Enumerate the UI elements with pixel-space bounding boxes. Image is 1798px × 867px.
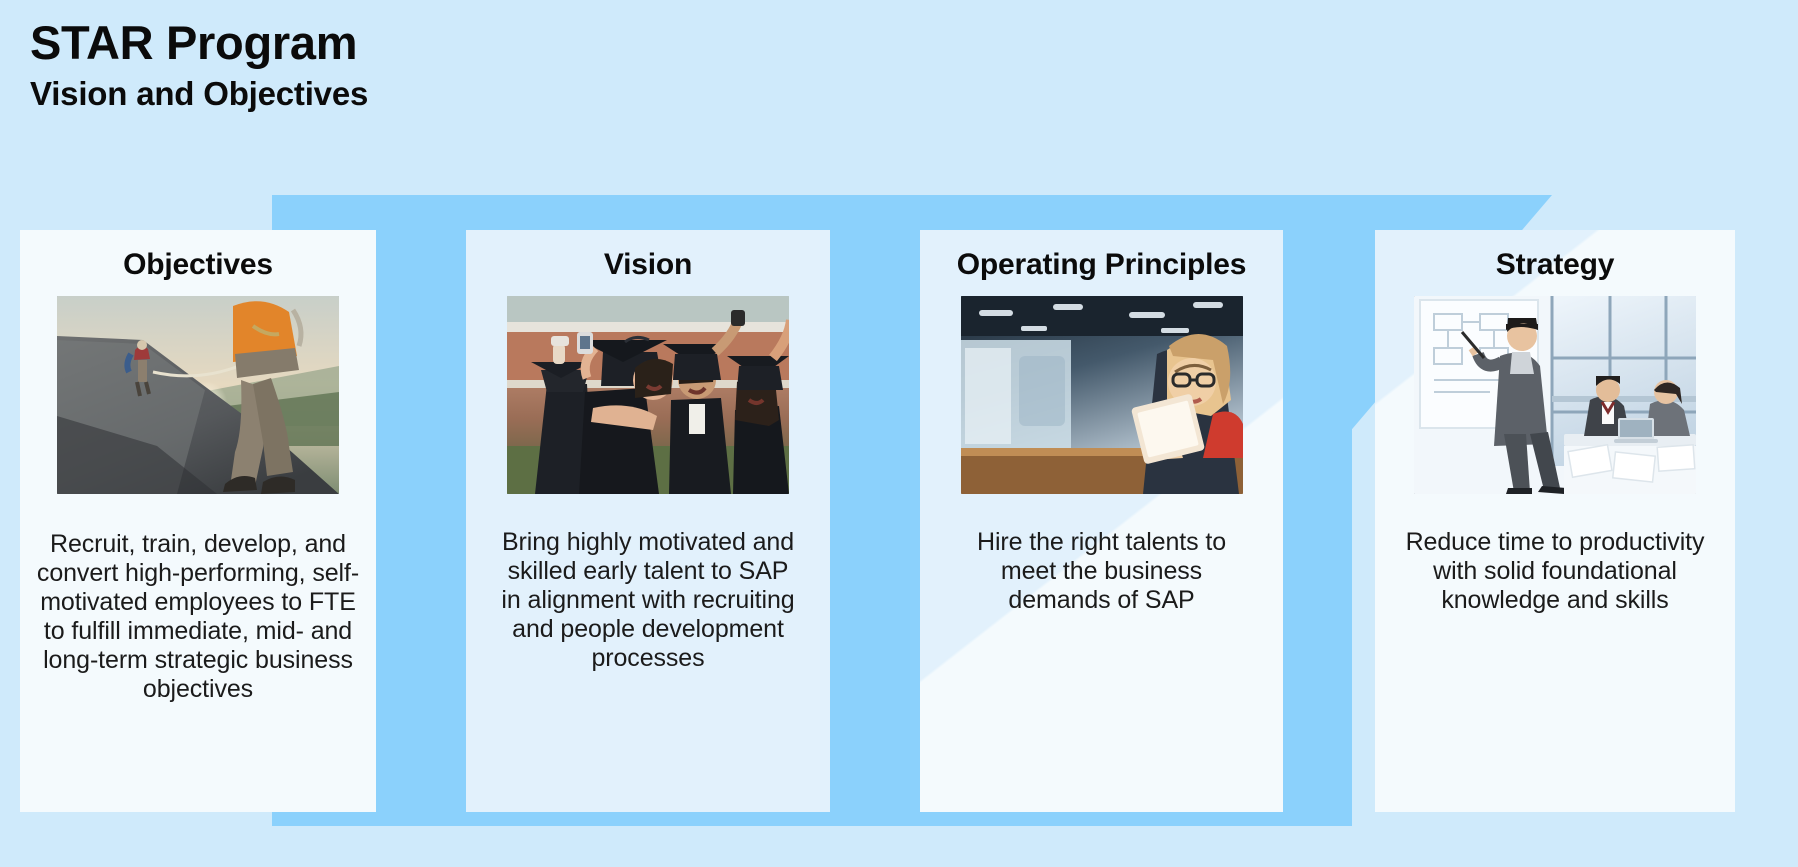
page-subtitle: Vision and Objectives bbox=[30, 73, 368, 114]
card-body: Bring highly motivated and skilled early… bbox=[500, 528, 796, 673]
card-title: Objectives bbox=[123, 248, 273, 282]
mountain-climbers-image bbox=[57, 296, 339, 494]
accent-band-diagonal bbox=[272, 195, 1552, 826]
card-body: Reduce time to productivity with solid f… bbox=[1405, 528, 1705, 615]
card-title: Operating Principles bbox=[957, 248, 1246, 282]
business-presentation-image bbox=[1414, 296, 1696, 494]
card-operating-principles[interactable]: Operating Principles bbox=[920, 230, 1283, 812]
card-vision[interactable]: Vision bbox=[466, 230, 830, 812]
card-title: Vision bbox=[604, 248, 692, 282]
woman-reading-tablet-image bbox=[961, 296, 1243, 494]
slide-canvas: STAR Program Vision and Objectives Objec… bbox=[0, 0, 1798, 867]
card-strategy[interactable]: Strategy bbox=[1375, 230, 1735, 812]
graduates-celebrating-image bbox=[507, 296, 789, 494]
card-body: Recruit, train, develop, and convert hig… bbox=[34, 530, 362, 704]
card-body: Hire the right talents to meet the busin… bbox=[957, 528, 1247, 615]
page-title: STAR Program bbox=[30, 18, 368, 67]
card-title: Strategy bbox=[1496, 248, 1614, 282]
title-block: STAR Program Vision and Objectives bbox=[30, 18, 368, 115]
card-objectives[interactable]: Objectives bbox=[20, 230, 376, 812]
